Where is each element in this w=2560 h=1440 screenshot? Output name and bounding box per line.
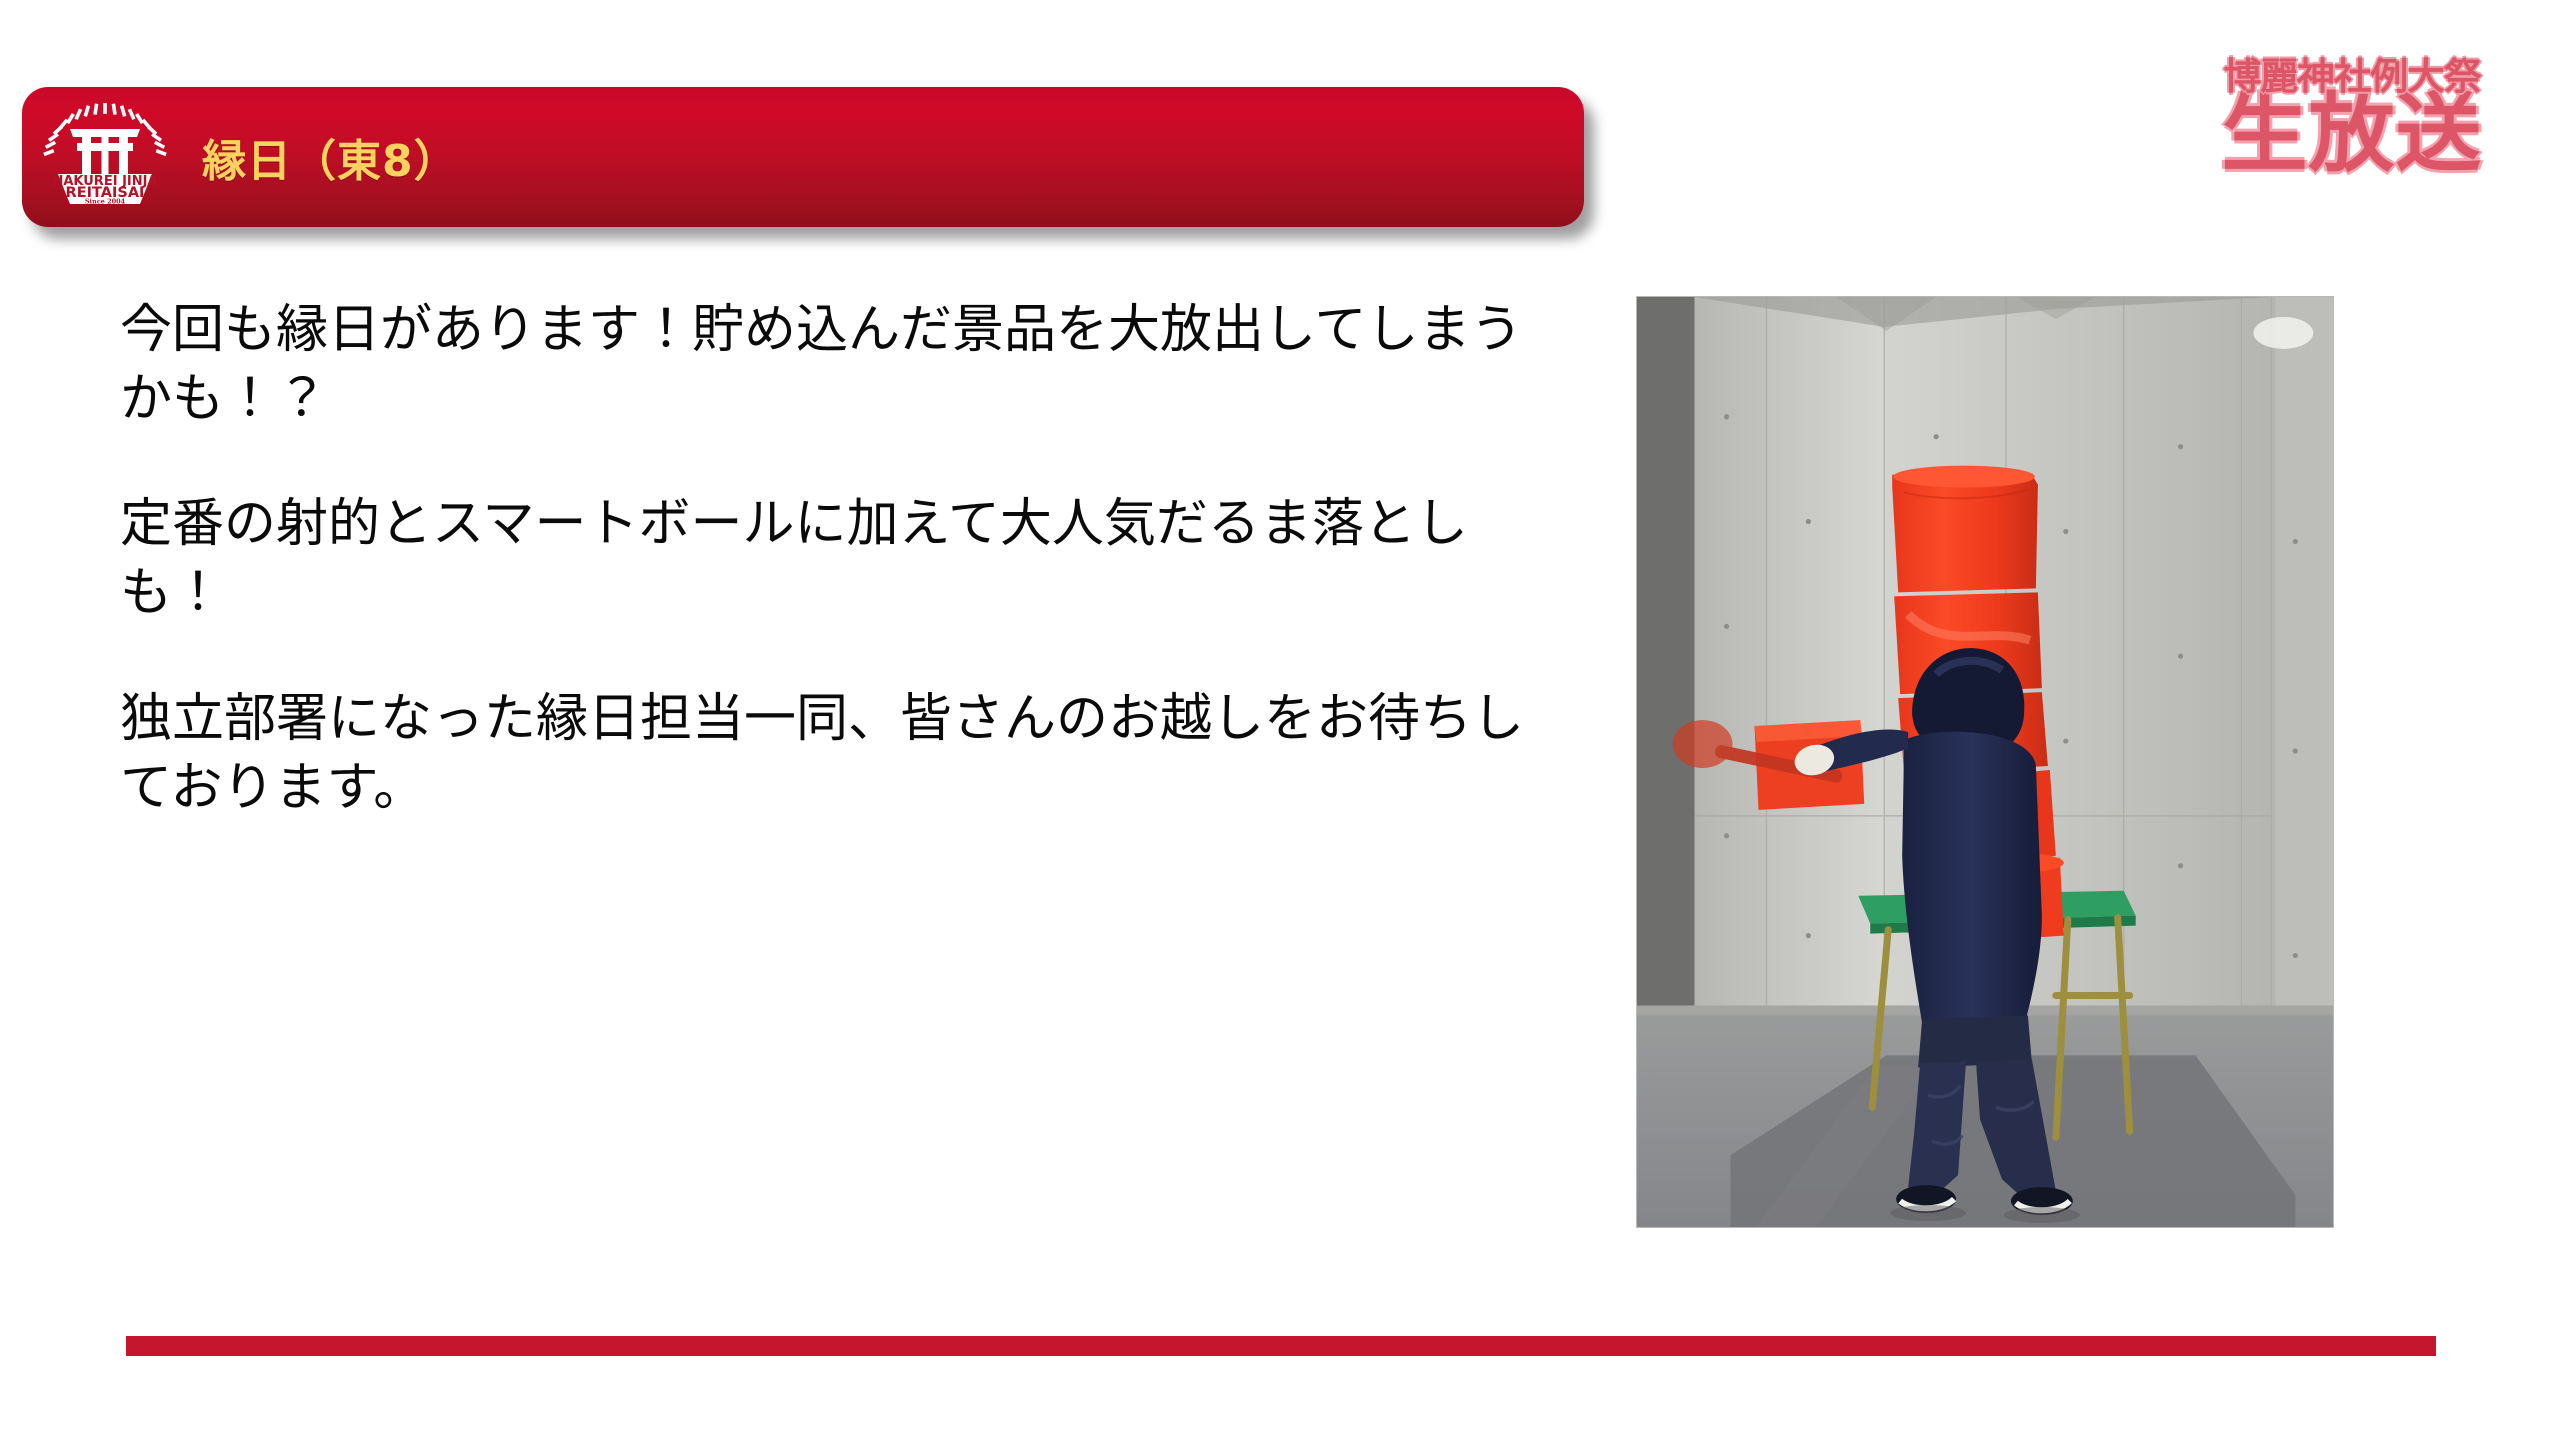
bottom-accent-rule [126, 1336, 2436, 1356]
logo-line3: Since 2004 [85, 198, 126, 206]
program-logo-subtitle: 博麗神社例大祭 [2199, 58, 2505, 95]
daruma-otoshi-photo [1636, 296, 2334, 1228]
hakurei-jinja-reitaisai-logo: HAKUREI JINJA REITAISAI Since 2004 [42, 94, 168, 220]
program-logo-title: 生放送 [2202, 91, 2502, 177]
body-paragraph-3: 独立部署になった縁日担当一同、皆さんのお越しをお待ちしております。 [120, 685, 1550, 823]
body-paragraph-1: 今回も縁日があります！貯め込んだ景品を大放出してしまうかも！？ [120, 296, 1550, 434]
body-copy: 今回も縁日があります！貯め込んだ景品を大放出してしまうかも！？ 定番の射的とスマ… [120, 296, 1550, 823]
page-title: 縁日（東8） [202, 125, 459, 189]
header-bar: HAKUREI JINJA REITAISAI Since 2004 縁日（東8… [22, 87, 1584, 227]
body-paragraph-2: 定番の射的とスマートボールに加えて大人気だるま落としも！ [120, 490, 1550, 628]
program-logo: 博麗神社例大祭 生放送 [2202, 58, 2502, 177]
